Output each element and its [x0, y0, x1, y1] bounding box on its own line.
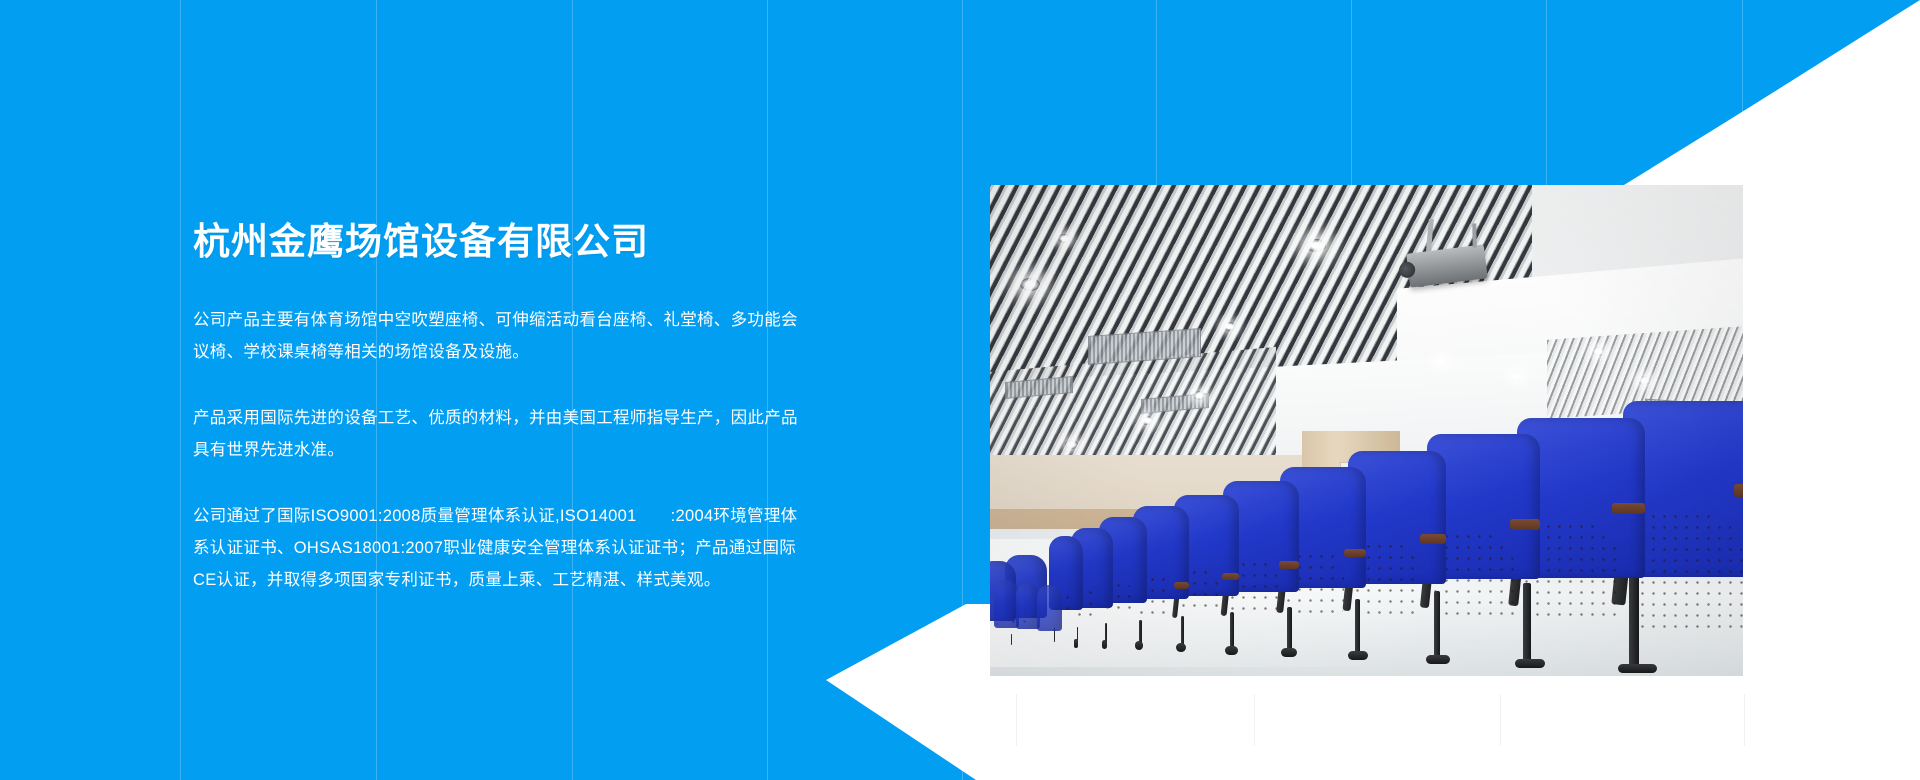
hero-copy-block: 杭州金鹰场馆设备有限公司 公司产品主要有体育场馆中空吹塑座椅、可伸缩活动看台座椅…	[193, 220, 813, 596]
downlight	[1510, 372, 1523, 381]
auditorium-photo-canvas	[990, 185, 1743, 676]
downlight	[1058, 234, 1071, 243]
auditorium-seat-far-row	[1037, 585, 1062, 676]
hero-banner: 杭州金鹰场馆设备有限公司 公司产品主要有体育场馆中空吹塑座椅、可伸缩活动看台座椅…	[0, 0, 1920, 780]
products-paragraph: 公司产品主要有体育场馆中空吹塑座椅、可伸缩活动看台座椅、礼堂椅、多功能会议椅、学…	[193, 304, 813, 368]
quality-paragraph: 产品采用国际先进的设备工艺、优质的材料，并由美国工程师指导生产，因此产品具有世界…	[193, 402, 813, 466]
seat-rows	[990, 401, 1743, 676]
certifications-paragraph: 公司通过了国际ISO9001:2008质量管理体系认证,ISO14001:200…	[193, 500, 813, 596]
downlight	[1434, 357, 1447, 366]
company-name-heading: 杭州金鹰场馆设备有限公司	[193, 220, 813, 266]
auditorium-photo	[990, 185, 1743, 676]
grid-line	[1744, 694, 1745, 746]
certifications-text-part-1: 公司通过了国际ISO9001:2008质量管理体系认证,ISO14001	[193, 507, 637, 525]
